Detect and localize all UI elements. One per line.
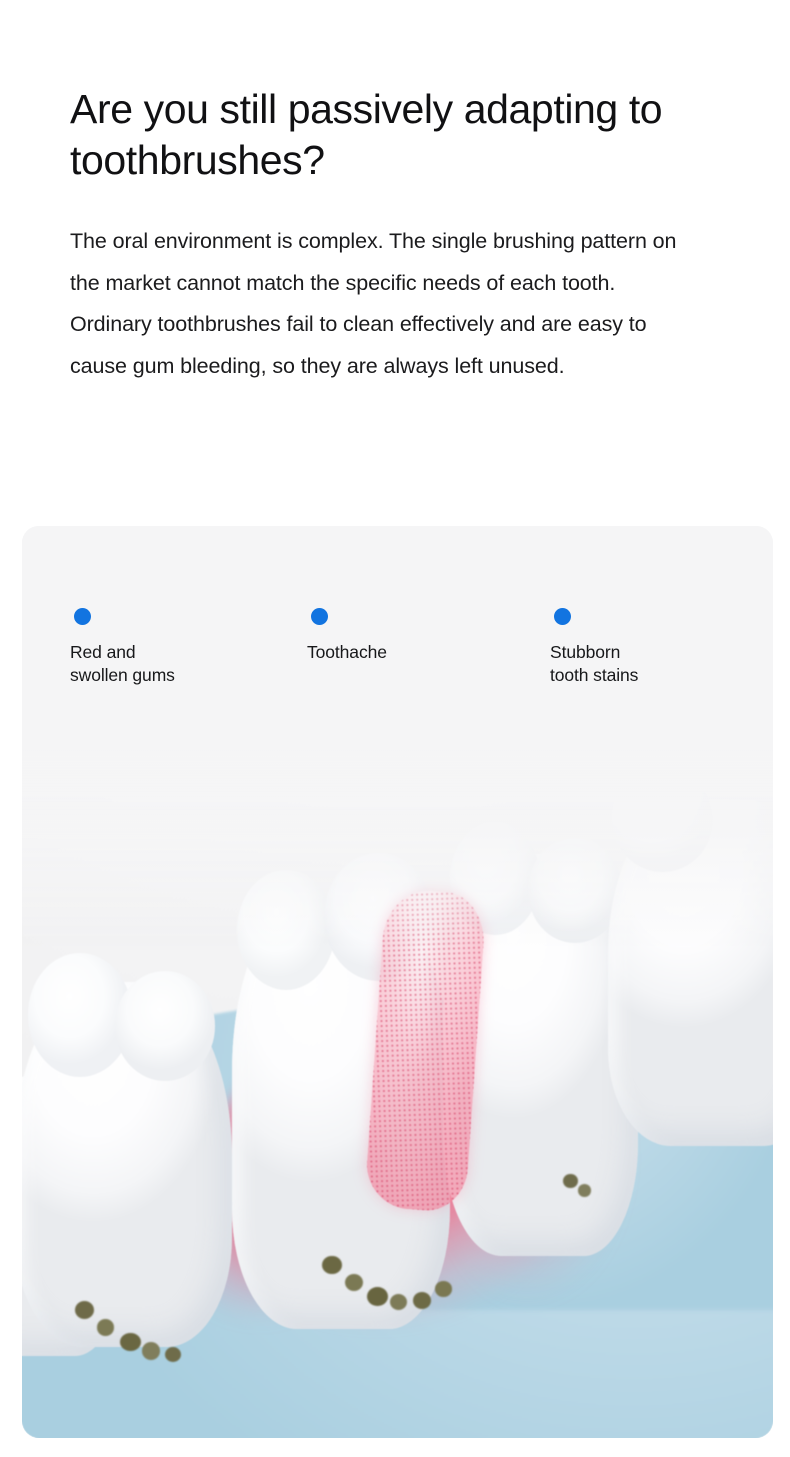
symptom-item-red-swollen-gums: Red and swollen gums (70, 526, 270, 687)
symptom-illustration-card: Red and swollen gums Toothache Stubborn … (22, 526, 773, 1438)
symptom-label: Toothache (307, 641, 507, 664)
product-detail-page: Are you still passively adapting to toot… (0, 0, 790, 1457)
symptom-item-stubborn-tooth-stains: Stubborn tooth stains (550, 526, 760, 687)
page-title: Are you still passively adapting to toot… (70, 84, 730, 186)
symptom-list: Red and swollen gums Toothache Stubborn … (22, 526, 773, 716)
symptom-label: Red and swollen gums (70, 641, 270, 687)
body-paragraph: The oral environment is complex. The sin… (70, 221, 695, 387)
bullet-dot-icon (74, 608, 91, 625)
symptom-item-toothache: Toothache (307, 526, 507, 664)
symptom-label: Stubborn tooth stains (550, 641, 760, 687)
bullet-dot-icon (554, 608, 571, 625)
bullet-dot-icon (311, 608, 328, 625)
